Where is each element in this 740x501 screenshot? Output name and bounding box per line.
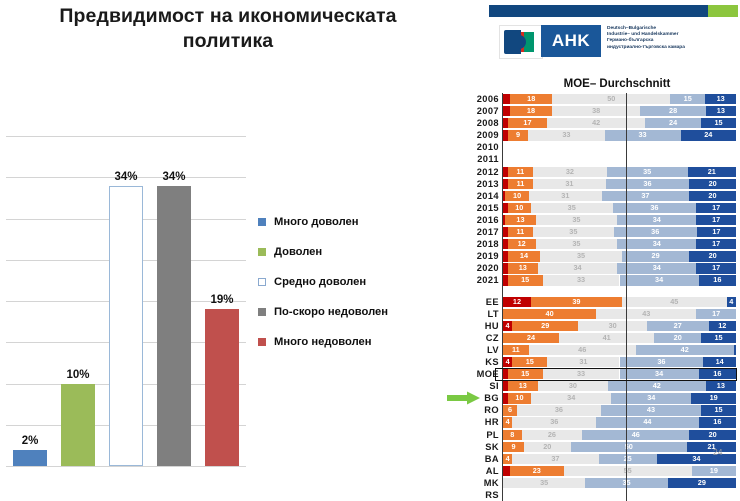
country-label: MK	[455, 477, 499, 489]
moe-comparison-panel: MOE– Durchschnitt 2006185015132007183828…	[455, 78, 740, 453]
legend-item-2: Доволен	[258, 246, 438, 259]
legend-item-1: Много доволен	[258, 216, 438, 229]
stacked-bar: 13353417	[503, 215, 736, 225]
logo-subtitle: Deutsch–Bulgarische Industrie– und Hande…	[607, 26, 739, 51]
country-row: KS415313614	[455, 356, 740, 368]
bar-segment: 43	[601, 405, 701, 415]
bar-segment: 16	[699, 369, 736, 379]
bar-segment	[734, 345, 736, 355]
stacked-bar: 15333416	[503, 369, 736, 379]
bar-segment: 17	[696, 203, 736, 213]
chart-legend: Много доволенДоволенСредно доволенПо-ско…	[258, 216, 438, 366]
legend-item-5: Много недоволен	[258, 336, 438, 349]
stacked-bar: 1239454	[503, 297, 736, 307]
bar-segment: 36	[606, 179, 690, 189]
bar-segment: 33	[543, 275, 620, 285]
bar-segment: 55	[564, 466, 692, 476]
year-row: 200618501513	[455, 93, 740, 105]
country-label: HU	[455, 320, 499, 332]
bar-segment: 17	[508, 118, 548, 128]
bar-segment: 15	[701, 333, 736, 343]
bar-segment: 27	[647, 321, 709, 331]
stacked-bar: 11323521	[503, 167, 736, 177]
country-label: HR	[455, 416, 499, 428]
legend-swatch-icon	[258, 338, 266, 346]
bar-segment: 20	[689, 251, 736, 261]
bar-rect	[157, 186, 191, 467]
year-row: 201711353617	[455, 226, 740, 238]
bar-segment: 50	[571, 442, 688, 452]
stacked-bar: 6364315	[503, 405, 736, 415]
year-label: 2020	[455, 262, 499, 274]
bar-segment: 4	[503, 357, 512, 367]
year-row: 202115333416	[455, 274, 740, 286]
stacked-bar: 12353417	[503, 239, 736, 249]
bar-segment: 34	[538, 263, 617, 273]
year-label: 2010	[455, 141, 499, 153]
country-row: SK9205021	[455, 441, 740, 453]
bar-segment: 34	[531, 393, 611, 403]
bar-segment: 11	[508, 167, 533, 177]
country-row: SI13304213	[455, 380, 740, 392]
year-row: 200817422415	[455, 117, 740, 129]
year-row: 20099333324	[455, 129, 740, 141]
bar-segment: 34	[617, 239, 696, 249]
stacked-bar: 11353617	[503, 227, 736, 237]
page-title: Предвидимост на икономическата политика	[18, 4, 438, 54]
bar-segment: 33	[543, 369, 620, 379]
bar-segment: 14	[508, 251, 541, 261]
country-label: EE	[455, 296, 499, 308]
bar-segment: 30	[538, 381, 608, 391]
country-label: MOE	[455, 368, 499, 380]
bar-segment: 13	[508, 263, 538, 273]
country-row: AL235519	[455, 465, 740, 477]
bar-segment: 20	[689, 179, 736, 189]
bar-segment: 34	[617, 215, 696, 225]
bar-segment: 42	[636, 345, 734, 355]
year-row: 201311313620	[455, 178, 740, 190]
axis-line-middle	[626, 93, 627, 501]
bar-segment: 11	[503, 345, 529, 355]
bar-segment: 31	[529, 191, 602, 201]
stacked-bar: 404317	[503, 309, 736, 319]
bar-segment: 35	[533, 227, 614, 237]
legend-label: Доволен	[274, 246, 322, 258]
bar-segment: 15	[701, 405, 736, 415]
bar-segment: 38	[552, 106, 641, 116]
bar-segment: 35	[540, 251, 622, 261]
bar-segment: 11	[508, 227, 533, 237]
year-label: 2009	[455, 129, 499, 141]
year-row: 201613353417	[455, 214, 740, 226]
bar-segment: 20	[689, 191, 736, 201]
bar-segment: 9	[508, 130, 529, 140]
year-label: 2021	[455, 274, 499, 286]
stacked-bar: 114642	[503, 345, 736, 355]
stacked-bar: 18382813	[503, 106, 736, 116]
bar-segment: 20	[524, 442, 571, 452]
bar-segment: 33	[528, 130, 604, 140]
country-row: CZ24412015	[455, 332, 740, 344]
country-label: RS	[455, 489, 499, 501]
legend-item-4: По-скоро недоволен	[258, 306, 438, 319]
year-label: 2007	[455, 105, 499, 117]
bar-segment: 6	[503, 405, 517, 415]
stacked-bar: 9205021	[503, 442, 736, 452]
bar-segment: 29	[668, 478, 736, 488]
bar-segment: 17	[697, 227, 736, 237]
bar-segment: 4	[503, 417, 512, 427]
stacked-bar: 4364416	[503, 417, 736, 427]
logo-line-4: индустриално-търговска камара	[607, 45, 739, 51]
bar-segment: 29	[512, 321, 578, 331]
logo-block: AHK Deutsch–Bulgarische Industrie– und H…	[499, 25, 738, 58]
bar-segment: 34	[657, 454, 736, 464]
country-row: MK353529	[455, 477, 740, 489]
bar-segment: 36	[512, 417, 596, 427]
block-separator	[455, 287, 740, 296]
bar-segment: 35	[536, 215, 618, 225]
bar-segment: 28	[640, 106, 705, 116]
bar-segment: 4	[503, 321, 512, 331]
country-label: PL	[455, 429, 499, 441]
bar-segment: 31	[533, 179, 605, 189]
logo-mark-icon	[499, 25, 543, 59]
bar-segment: 17	[696, 215, 736, 225]
bar-segment: 35	[503, 478, 585, 488]
bar-segment: 34	[620, 369, 699, 379]
bar-value-label: 10%	[48, 369, 108, 381]
country-row: PL8264620	[455, 429, 740, 441]
country-label: BA	[455, 453, 499, 465]
bar-segment: 21	[688, 167, 736, 177]
year-label: 2008	[455, 117, 499, 129]
stacked-bar: 17422415	[503, 118, 736, 128]
year-row: 201510353617	[455, 202, 740, 214]
country-label: LV	[455, 344, 499, 356]
bar-rect	[61, 384, 95, 467]
ahk-logo: AHK Deutsch–Bulgarische Industrie– und H…	[489, 2, 738, 60]
stacked-bar: 9333324	[503, 130, 736, 140]
year-label: 2016	[455, 214, 499, 226]
bar-segment: 36	[620, 357, 704, 367]
slide: Предвидимост на икономическата политика …	[0, 0, 740, 481]
stacked-bar: 15333416	[503, 275, 736, 285]
bar-segment: 46	[529, 345, 636, 355]
bar-value-label: 34%	[144, 171, 204, 183]
country-row: RO6364315	[455, 404, 740, 416]
bar-segment: 50	[552, 94, 670, 104]
country-row: LV114642	[455, 344, 740, 356]
year-label: 2011	[455, 153, 499, 165]
year-label: 2006	[455, 93, 499, 105]
legend-swatch-icon	[258, 248, 266, 256]
legend-label: Много доволен	[274, 216, 359, 228]
bar-segment: 17	[696, 309, 736, 319]
bar-segment: 46	[582, 430, 689, 440]
bar-segment: 30	[578, 321, 647, 331]
stacked-bar: 14352920	[503, 251, 736, 261]
bar-segment: 41	[559, 333, 655, 343]
bar-segment: 43	[596, 309, 696, 319]
bar-segment: 39	[531, 297, 622, 307]
bar-segment: 20	[689, 430, 736, 440]
country-row: HR4364416	[455, 416, 740, 428]
stacked-bar: 24412015	[503, 333, 736, 343]
bar-segment: 37	[602, 191, 689, 201]
bar-segment: 12	[503, 297, 531, 307]
bar-segment: 24	[645, 118, 701, 128]
country-row: EE1239454	[455, 296, 740, 308]
bar-segment: 36	[517, 405, 601, 415]
year-row: 2011	[455, 153, 740, 165]
moe-panel-heading: MOE– Durchschnitt	[517, 78, 717, 90]
year-label: 2013	[455, 178, 499, 190]
country-label: LT	[455, 308, 499, 320]
bar-segment: 13	[705, 94, 736, 104]
legend-label: Много недоволен	[274, 336, 372, 348]
year-label: 2012	[455, 166, 499, 178]
bar-segment: 14	[703, 357, 736, 367]
stacked-bar: 11313620	[503, 179, 736, 189]
bar-segment: 4	[727, 297, 736, 307]
bar-segment: 13	[505, 215, 535, 225]
axis-line-left	[502, 93, 503, 501]
bar-segment: 12	[508, 239, 536, 249]
stacked-bar: 235519	[503, 466, 736, 476]
bar-segment: 17	[696, 263, 736, 273]
country-label: SK	[455, 441, 499, 453]
bar-segment: 13	[508, 381, 538, 391]
stacked-bar: 4372534	[503, 454, 736, 464]
country-row: LT404317	[455, 308, 740, 320]
bar-segment: 13	[706, 106, 736, 116]
green-arrow-icon	[447, 391, 481, 405]
stacked-bar: 429302712	[503, 321, 736, 331]
legend-swatch-icon	[258, 218, 266, 226]
year-row: 201410313720	[455, 190, 740, 202]
chart-bars: 2%10%34%34%19%	[6, 136, 246, 466]
bar-segment: 29	[622, 251, 690, 261]
country-label: AL	[455, 465, 499, 477]
stacked-bar: 10343419	[503, 393, 736, 403]
bar-rect	[13, 450, 47, 467]
bar-segment: 34	[617, 263, 696, 273]
logo-banner-accent	[708, 5, 738, 17]
bar-segment: 44	[596, 417, 699, 427]
satisfaction-bar-chart: 2%10%34%34%19%	[6, 136, 246, 466]
bar-segment: 17	[696, 239, 736, 249]
bar-segment: 15	[508, 275, 543, 285]
bar-segment: 42	[547, 118, 645, 128]
bar-segment: 10	[505, 191, 529, 201]
year-label: 2019	[455, 250, 499, 262]
legend-swatch-icon	[258, 308, 266, 316]
legend-swatch-icon	[258, 278, 266, 286]
country-row: RS	[455, 489, 740, 501]
bar-segment: 35	[536, 239, 618, 249]
gridline	[6, 466, 246, 467]
year-label: 2015	[455, 202, 499, 214]
bar-segment: 8	[503, 430, 522, 440]
bar-segment: 10	[508, 393, 532, 403]
bar-segment: 26	[522, 430, 583, 440]
bar-segment	[503, 466, 510, 476]
country-row: HU429302712	[455, 320, 740, 332]
bar-value-label: 19%	[192, 294, 252, 306]
bar-segment: 34	[620, 275, 699, 285]
page-number: 24	[713, 447, 722, 457]
year-row: 201812353417	[455, 238, 740, 250]
stacked-bar: 13304213	[503, 381, 736, 391]
bar-segment: 19	[691, 393, 736, 403]
stacked-bar: 10353617	[503, 203, 736, 213]
bar-segment: 45	[622, 297, 727, 307]
bar-segment: 31	[547, 357, 619, 367]
stacked-bar: 10313720	[503, 191, 736, 201]
year-label: 2014	[455, 190, 499, 202]
bar-segment: 24	[503, 333, 559, 343]
bar-segment: 12	[709, 321, 736, 331]
bar-segment: 15	[670, 94, 705, 104]
bar-segment: 40	[503, 309, 596, 319]
legend-label: По-скоро недоволен	[274, 306, 388, 318]
bar-segment: 34	[611, 393, 691, 403]
bar-segment: 33	[605, 130, 681, 140]
bar-segment: 23	[510, 466, 564, 476]
country-row: MOE15333416	[455, 368, 740, 380]
country-label: KS	[455, 356, 499, 368]
bar-segment: 18	[510, 106, 552, 116]
bar-segment	[503, 106, 510, 116]
bar-segment: 15	[508, 369, 543, 379]
legend-label: Средно доволен	[274, 276, 366, 288]
bar-segment: 15	[512, 357, 547, 367]
bar-value-label: 2%	[0, 435, 60, 447]
bar-segment: 16	[699, 275, 736, 285]
country-row: BG10343419	[455, 392, 740, 404]
bar-segment: 37	[512, 454, 598, 464]
stacked-bar: 353529	[503, 478, 736, 488]
country-label: RO	[455, 404, 499, 416]
bar-segment: 24	[681, 130, 736, 140]
logo-banner-bar	[489, 5, 738, 17]
bar-segment: 32	[533, 167, 607, 177]
country-label: CZ	[455, 332, 499, 344]
bar-segment: 9	[503, 442, 524, 452]
year-label: 2017	[455, 226, 499, 238]
bar-segment: 10	[508, 203, 531, 213]
stacked-bar: 18501513	[503, 94, 736, 104]
year-row: 201914352920	[455, 250, 740, 262]
bar-segment: 35	[531, 203, 613, 213]
bar-segment: 15	[701, 118, 736, 128]
year-label: 2018	[455, 238, 499, 250]
year-row: 200718382813	[455, 105, 740, 117]
bar-segment	[503, 94, 510, 104]
year-row: 202013343417	[455, 262, 740, 274]
logo-ahk-text: AHK	[541, 25, 601, 57]
legend-item-3: Средно доволен	[258, 276, 438, 289]
bar-segment: 20	[654, 333, 701, 343]
stacked-bar: 8264620	[503, 430, 736, 440]
bar-segment: 13	[706, 381, 736, 391]
moe-rows: 2006185015132007183828132008174224152009…	[455, 93, 740, 501]
bar-segment: 18	[510, 94, 552, 104]
bar-rect	[109, 186, 143, 467]
stacked-bar: 415313614	[503, 357, 736, 367]
bar-segment: 21	[687, 442, 736, 452]
bar-segment: 4	[503, 454, 512, 464]
bar-segment: 19	[692, 466, 736, 476]
year-row: 2010	[455, 141, 740, 153]
country-row: BA4372534	[455, 453, 740, 465]
bar-segment: 11	[508, 179, 534, 189]
bar-rect	[205, 309, 239, 466]
bar-segment: 16	[699, 417, 736, 427]
year-row: 201211323521	[455, 166, 740, 178]
bar-segment: 42	[608, 381, 706, 391]
bar-segment: 35	[607, 167, 688, 177]
bar-segment: 25	[599, 454, 657, 464]
stacked-bar: 13343417	[503, 263, 736, 273]
